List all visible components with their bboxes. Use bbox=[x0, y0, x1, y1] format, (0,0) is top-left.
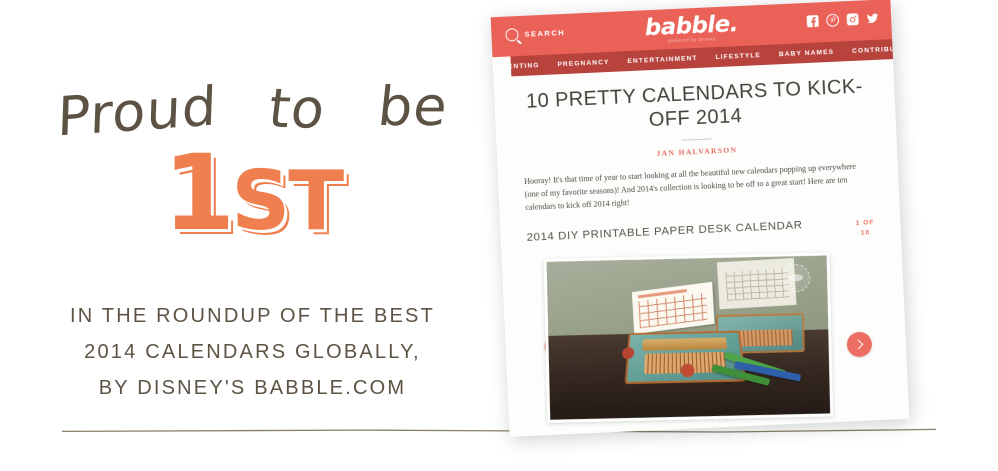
rank-number: 1 bbox=[163, 132, 231, 254]
divider-line-icon bbox=[62, 428, 936, 434]
caption-line-1: IN THE ROUNDUP OF THE BEST bbox=[0, 305, 505, 328]
promo-block: Proud to be 1ST IN THE ROUNDUP OF THE BE… bbox=[0, 0, 505, 440]
instagram-icon[interactable] bbox=[846, 13, 860, 27]
rank-badge: 1ST bbox=[0, 150, 505, 245]
nav-item-parenting[interactable]: PARENTING bbox=[491, 61, 549, 71]
slide-subhead: 2014 DIY PRINTABLE PAPER DESK CALENDAR bbox=[526, 219, 802, 244]
nav-item-lifestyle[interactable]: LIFESTYLE bbox=[706, 51, 770, 61]
headline-rule bbox=[681, 138, 711, 140]
twitter-icon[interactable] bbox=[866, 12, 880, 26]
site-page: SEARCH babble. powered by Disney bbox=[491, 0, 910, 437]
chevron-right-icon bbox=[853, 339, 863, 349]
facebook-icon[interactable] bbox=[806, 14, 820, 28]
photo-watermark-badge bbox=[782, 263, 811, 292]
slide-photo[interactable] bbox=[544, 252, 834, 422]
gallery-area bbox=[528, 247, 883, 433]
next-slide-button[interactable] bbox=[846, 331, 872, 357]
slide-counter-bottom: 10 bbox=[856, 228, 875, 239]
slide-photo-image bbox=[547, 255, 831, 419]
slide-heading-row: 2014 DIY PRINTABLE PAPER DESK CALENDAR 1… bbox=[526, 216, 875, 254]
caption-line-3: BY DISNEY'S BABBLE.COM bbox=[0, 377, 505, 400]
promo-script-headline: Proud to be bbox=[0, 74, 508, 146]
pinterest-icon[interactable] bbox=[826, 13, 840, 27]
article-intro-paragraph: Hooray! It's that time of year to start … bbox=[524, 159, 873, 214]
caption-line-2: 2014 CALENDARS GLOBALLY, bbox=[0, 341, 505, 364]
composition-canvas: Proud to be 1ST IN THE ROUNDUP OF THE BE… bbox=[0, 0, 998, 471]
nav-item-pregnancy[interactable]: PREGNANCY bbox=[548, 58, 618, 68]
nav-item-contributors[interactable]: CONTRIBUTORS bbox=[843, 44, 909, 55]
rank-suffix: ST bbox=[231, 154, 342, 249]
nav-item-entertainment[interactable]: ENTERTAINMENT bbox=[618, 54, 706, 65]
article-headline: 10 PRETTY CALENDARS TO KICK-OFF 2014 bbox=[520, 74, 870, 138]
babble-article-screenshot: SEARCH babble. powered by Disney bbox=[491, 0, 910, 437]
article-byline[interactable]: JAN HALVARSON bbox=[523, 139, 871, 164]
script-word-be: be bbox=[375, 75, 451, 138]
script-word-to: to bbox=[265, 77, 329, 141]
slide-counter-top: 1 OF bbox=[856, 218, 875, 229]
article-body: 10 PRETTY CALENDARS TO KICK-OFF 2014 JAN… bbox=[493, 59, 909, 433]
nav-item-baby-names[interactable]: BABY NAMES bbox=[770, 48, 843, 58]
slide-counter: 1 OF 10 bbox=[856, 218, 875, 239]
